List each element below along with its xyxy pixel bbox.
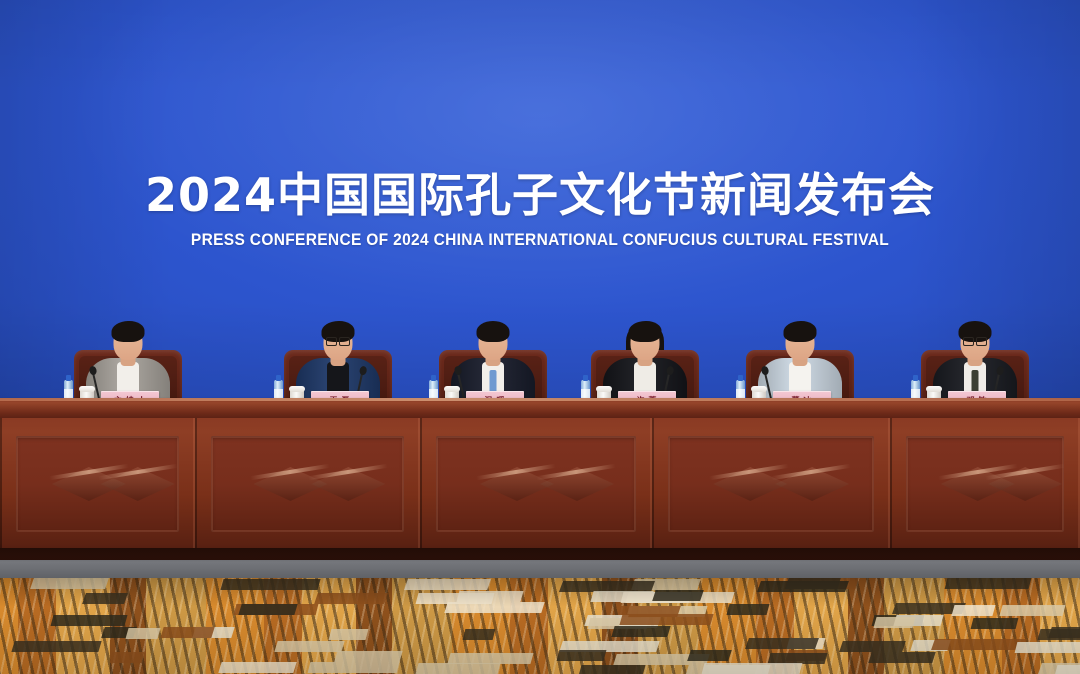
table-panel-segment-1 xyxy=(0,418,195,556)
patterned-carpet xyxy=(0,578,1080,674)
table-panel-segment-2 xyxy=(195,418,420,556)
table-panel-segment-4 xyxy=(652,418,890,556)
table-panel-segment-3 xyxy=(420,418,652,556)
table-inset-panel xyxy=(16,436,179,532)
table-inset-panel xyxy=(668,436,874,532)
hair xyxy=(112,321,145,342)
hair xyxy=(477,321,510,342)
hair xyxy=(629,321,662,342)
table-base-trim xyxy=(0,548,1080,560)
table-inset-panel xyxy=(906,436,1064,532)
table-panel-segment-5 xyxy=(890,418,1080,556)
table-inset-panel xyxy=(436,436,636,532)
eyeglasses xyxy=(963,337,987,344)
table-inset-panel xyxy=(211,436,404,532)
carpet-shading xyxy=(0,578,1080,674)
hair xyxy=(784,321,817,342)
table-front-panelling xyxy=(0,418,1080,556)
eyeglasses xyxy=(326,337,350,344)
press-conference-photo: 2024中国国际孔子文化节新闻发布会 PRESS CONFERENCE OF 2… xyxy=(0,0,1080,674)
